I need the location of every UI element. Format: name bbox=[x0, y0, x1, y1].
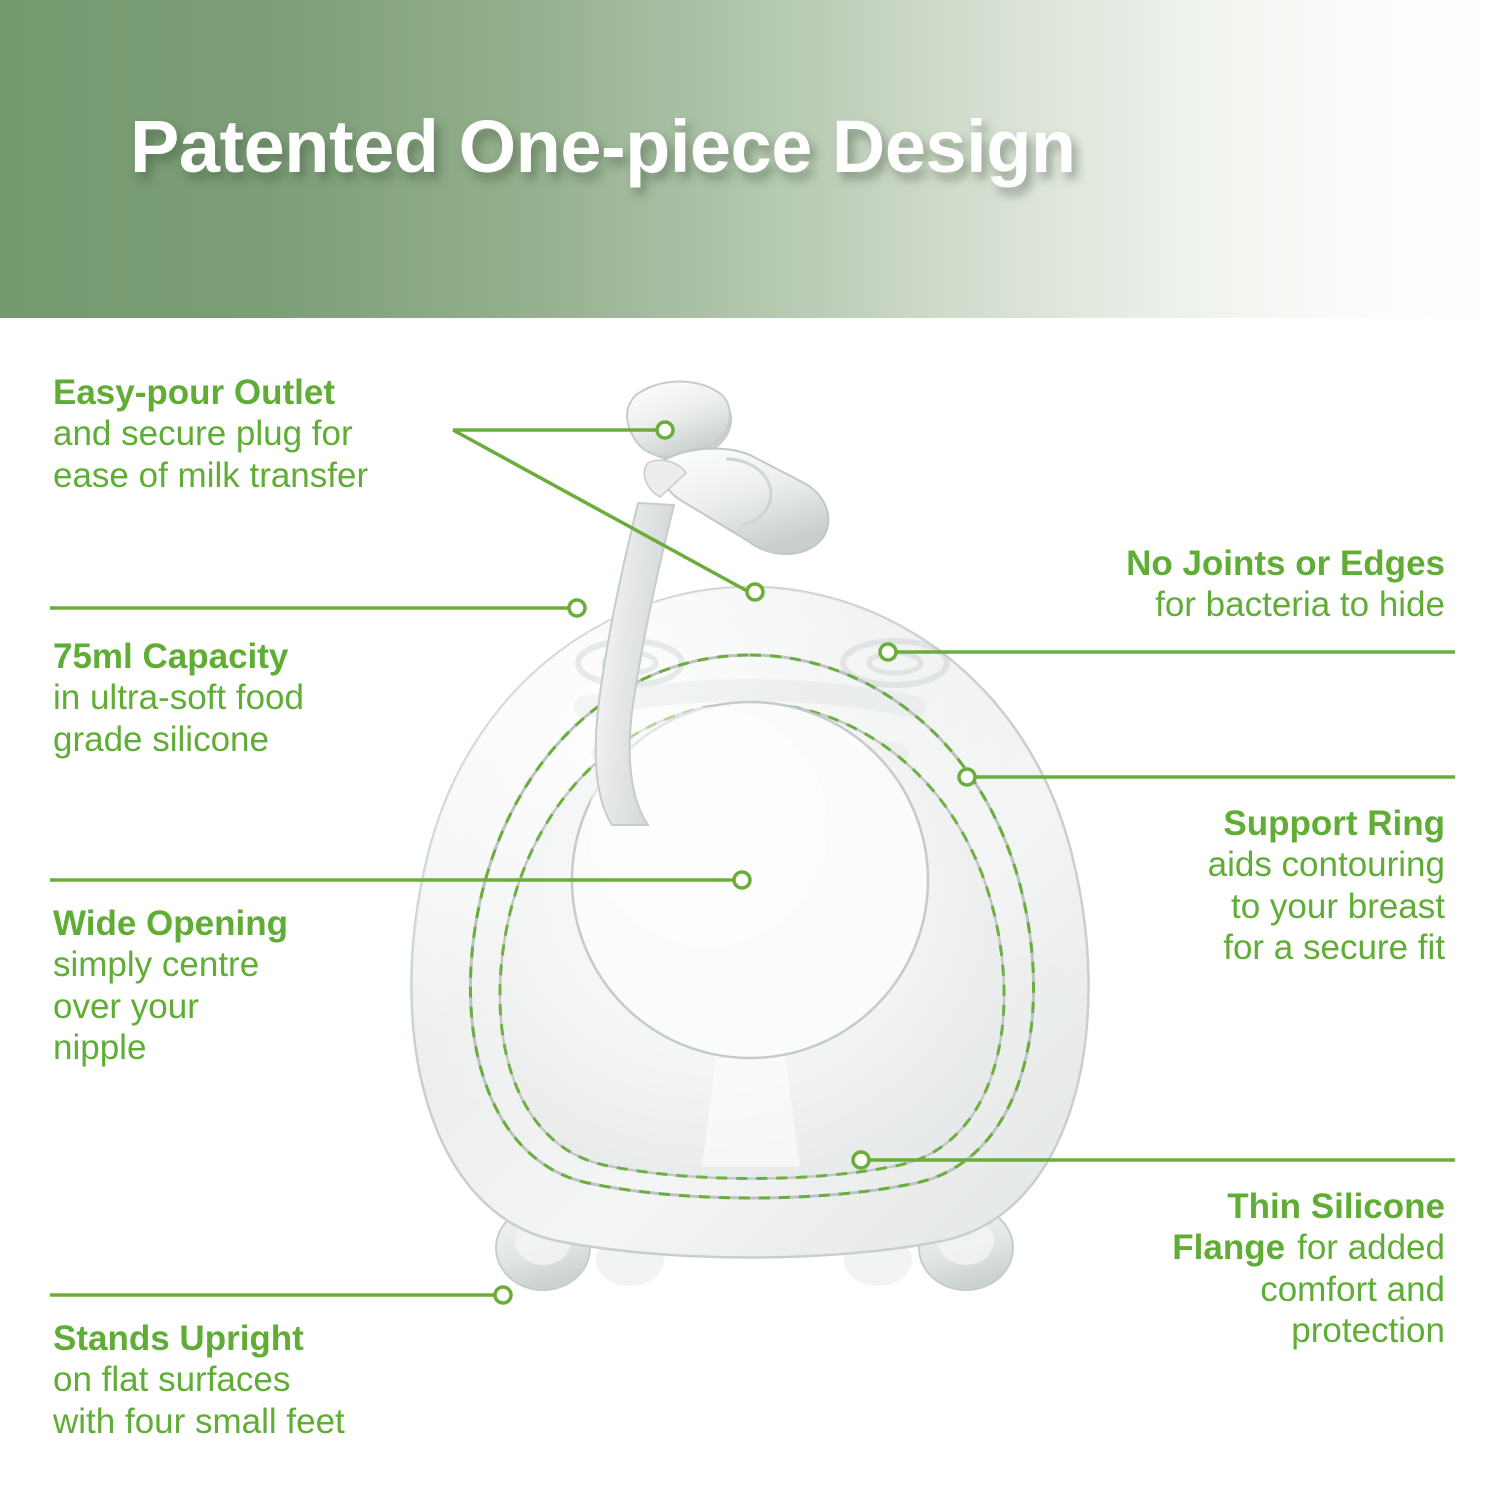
callout-body-line: grade silicone bbox=[53, 719, 483, 760]
callout-heading-line: Flangefor added bbox=[975, 1227, 1445, 1268]
callout-no-joints-or-edges: No Joints or Edges for bacteria to hide bbox=[925, 543, 1445, 626]
callout-heading: Thin Silicone bbox=[1227, 1187, 1445, 1226]
callout-stands-upright: Stands Upright on flat surfaces with fou… bbox=[53, 1318, 503, 1442]
callout-heading-cont: Flange bbox=[1172, 1228, 1285, 1267]
spout-plug bbox=[661, 449, 828, 554]
callout-body-line: nipple bbox=[53, 1027, 453, 1068]
callout-body-line: protection bbox=[975, 1310, 1445, 1351]
callout-heading: No Joints or Edges bbox=[925, 543, 1445, 584]
callout-body-line: comfort and bbox=[975, 1269, 1445, 1310]
callout-body-line: with four small feet bbox=[53, 1401, 503, 1442]
callout-body-line: for bacteria to hide bbox=[925, 584, 1445, 625]
callout-heading: Support Ring bbox=[1005, 803, 1445, 844]
callout-heading-line: Thin Silicone bbox=[975, 1186, 1445, 1227]
callout-body-line: for added bbox=[1297, 1228, 1445, 1267]
callout-support-ring: Support Ring aids contouring to your bre… bbox=[1005, 803, 1445, 968]
callout-body-line: to your breast bbox=[1005, 886, 1445, 927]
callout-body-line: and secure plug for bbox=[53, 413, 523, 454]
callout-body-line: aids contouring bbox=[1005, 844, 1445, 885]
callout-body-line: for a secure fit bbox=[1005, 927, 1445, 968]
callout-body-line: in ultra-soft food bbox=[53, 677, 483, 718]
callout-body-line: over your bbox=[53, 986, 453, 1027]
callout-heading: Wide Opening bbox=[53, 903, 453, 944]
callout-body-line: on flat surfaces bbox=[53, 1359, 503, 1400]
callout-easy-pour-outlet: Easy-pour Outlet and secure plug for eas… bbox=[53, 372, 523, 496]
callout-body-line: ease of milk transfer bbox=[53, 455, 523, 496]
header-band: Patented One-piece Design bbox=[0, 0, 1500, 318]
callout-heading: 75ml Capacity bbox=[53, 636, 483, 677]
callout-heading: Easy-pour Outlet bbox=[53, 372, 523, 413]
callout-heading: Stands Upright bbox=[53, 1318, 503, 1359]
callout-wide-opening: Wide Opening simply centre over your nip… bbox=[53, 903, 453, 1068]
callout-body-line: simply centre bbox=[53, 944, 453, 985]
infographic-page: Patented One-piece Design bbox=[0, 0, 1500, 1500]
callout-capacity: 75ml Capacity in ultra-soft food grade s… bbox=[53, 636, 483, 760]
callout-thin-silicone-flange: Thin Silicone Flangefor added comfort an… bbox=[975, 1186, 1445, 1351]
page-title: Patented One-piece Design bbox=[130, 104, 1076, 189]
